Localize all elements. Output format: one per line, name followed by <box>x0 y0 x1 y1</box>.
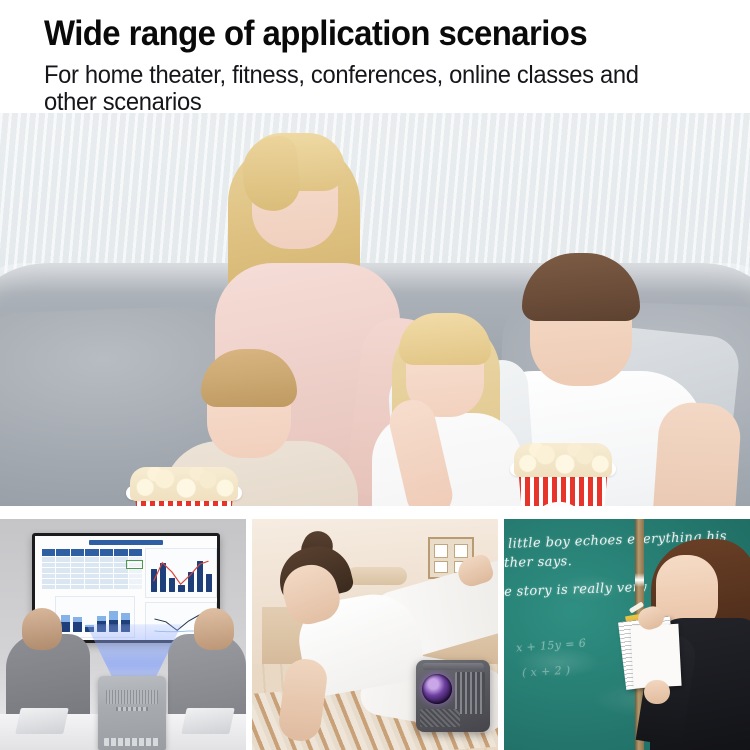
table-row <box>42 579 142 584</box>
projector-vent <box>455 672 485 714</box>
scenario-panels: little boy echoes everything his ther sa… <box>0 519 750 750</box>
page-title: Wide range of application scenarios <box>44 13 587 55</box>
girl-hair-top <box>399 313 491 365</box>
promo-page: Wide range of application scenarios For … <box>0 0 750 750</box>
table-row <box>42 574 142 579</box>
laptop-right <box>181 708 235 734</box>
hero-image-home-theater <box>0 113 750 506</box>
dashboard-bar-line-chart <box>145 548 217 598</box>
panel-conferences <box>0 519 246 750</box>
shelf-object <box>347 567 407 585</box>
projector-buttons <box>116 707 148 711</box>
popcorn-kernels <box>514 443 612 477</box>
chalkboard-math-2: ( x + 2 ) <box>522 664 571 680</box>
trend-line-overlay <box>151 555 212 592</box>
panel-fitness <box>252 519 498 750</box>
chalkboard-line-2: ther says. <box>504 554 572 571</box>
teacher-papers-back <box>630 624 681 688</box>
projector-vent <box>106 690 158 704</box>
attendee-head <box>22 608 62 650</box>
portable-projector <box>416 660 490 732</box>
projector-ports <box>104 738 160 746</box>
projector-speaker-mesh <box>420 709 460 727</box>
trend-line-icon <box>151 555 212 592</box>
projector-top-panel <box>422 663 484 670</box>
conference-projector <box>98 676 166 750</box>
popcorn-bucket-left <box>128 473 240 506</box>
highlighted-cell <box>126 560 143 569</box>
popcorn-bucket-right <box>512 449 614 506</box>
projector-lens <box>422 674 452 704</box>
attendee-head <box>194 608 234 650</box>
teacher-holding-hand <box>644 680 670 704</box>
rail-light-glint <box>635 573 644 587</box>
popcorn-kernels <box>130 467 238 501</box>
dashboard-table <box>42 549 142 589</box>
table-header-row <box>42 549 142 556</box>
panel-online-classes: little boy echoes everything his ther sa… <box>504 519 750 750</box>
father-arm-right <box>650 400 743 506</box>
page-subtitle: For home theater, fitness, conferences, … <box>44 62 671 116</box>
dashboard-title-bar <box>89 540 163 545</box>
laptop-left <box>15 708 69 734</box>
header: Wide range of application scenarios For … <box>0 0 750 113</box>
table-row <box>42 585 142 590</box>
